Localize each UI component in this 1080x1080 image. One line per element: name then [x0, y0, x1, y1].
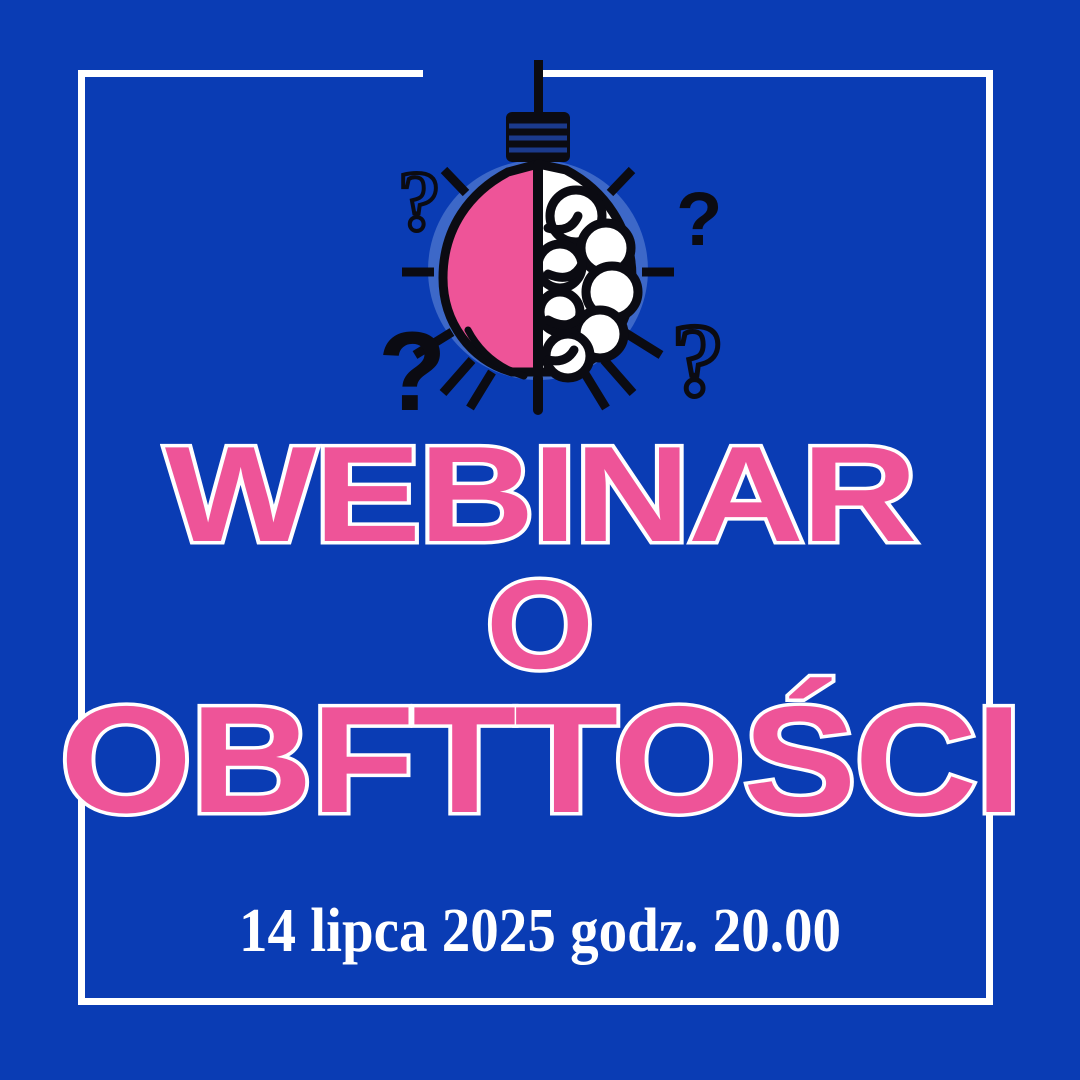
headline-line-o: O [0, 565, 1080, 685]
question-mark-top-right: ? [676, 177, 722, 262]
headline-line-webinar: WEBINAR [0, 432, 1080, 557]
event-date-time: 14 lipca 2025 godz. 20.00 [43, 896, 1037, 967]
bottom-ray [533, 373, 543, 415]
lightbulb-brain-illustration: ? ? ? ? [0, 60, 1080, 450]
headline-block: WEBINAR O OBFTTOŚCI [0, 432, 1080, 831]
bulb-screw-base [506, 112, 570, 162]
question-mark-top-left: ? [398, 153, 441, 249]
poster-canvas: ? ? ? ? WEBINAR O OBFTTOŚCI 14 lipca 202… [0, 0, 1080, 1080]
question-mark-bottom-right: ? [672, 303, 724, 418]
bulb-filament-stem [533, 164, 543, 376]
question-mark-bottom-left: ? [378, 309, 446, 434]
frame-bottom-segment [78, 998, 993, 1005]
headline-line-obfitosci: OBFTTOŚCI [0, 691, 1080, 831]
